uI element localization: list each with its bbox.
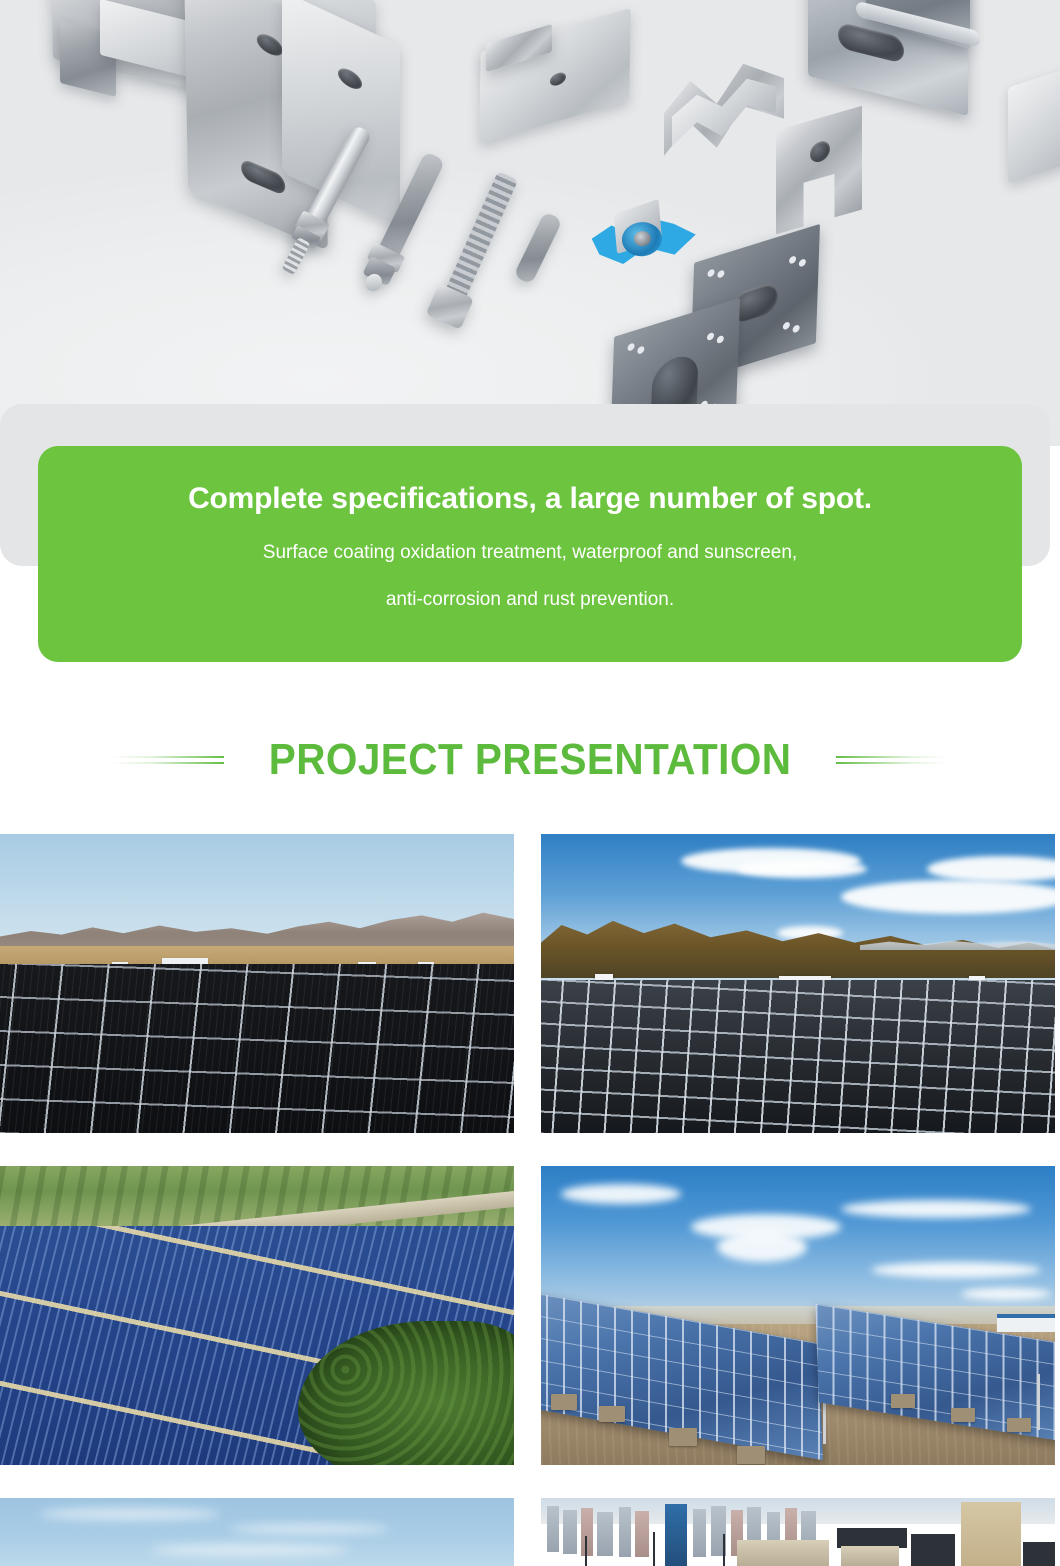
pylon-icon (585, 1536, 587, 1566)
concrete-footing-icon (737, 1446, 765, 1464)
highrise-building-icon (597, 1512, 613, 1556)
solar-panel-field-layer (0, 964, 514, 1133)
blue-nylon-tbolt-washer-part (589, 202, 699, 279)
hero-product-image (0, 0, 1060, 446)
highrise-building-icon (635, 1511, 649, 1557)
gallery-item-project-4[interactable] (541, 1166, 1055, 1465)
cloud-icon (561, 1184, 681, 1204)
industrial-structure-icon (1023, 1542, 1055, 1566)
banner-subtitle-line-1: Surface coating oxidation treatment, wat… (263, 542, 797, 564)
cloud-icon (841, 1200, 1031, 1218)
concrete-footing-icon (1007, 1418, 1031, 1432)
banner-title: Complete specifications, a large number … (188, 482, 872, 515)
bracket-hole-icon (338, 65, 362, 93)
spec-highlight-banner: Complete specifications, a large number … (38, 446, 1022, 662)
highrise-building-icon (563, 1510, 577, 1554)
section-title: PROJECT PRESENTATION (269, 735, 792, 785)
site-shed-icon (997, 1314, 1055, 1332)
industrial-structure-icon (837, 1528, 907, 1548)
low-building-icon (737, 1540, 829, 1566)
cloud-icon (737, 860, 867, 878)
gallery-item-project-5[interactable] (0, 1498, 514, 1566)
project-gallery-grid (0, 834, 1060, 1566)
aluminum-mid-clamp-part (479, 8, 631, 144)
highrise-building-icon (619, 1507, 631, 1557)
concrete-footing-icon (951, 1408, 975, 1422)
panel-support-leg (1037, 1374, 1040, 1430)
gallery-item-project-3[interactable] (0, 1166, 514, 1465)
gallery-item-project-2[interactable] (541, 834, 1055, 1133)
pylon-icon (653, 1532, 655, 1566)
bracket-slot-icon (241, 158, 285, 197)
concrete-footing-icon (599, 1406, 625, 1422)
highrise-building-icon (693, 1509, 706, 1557)
concrete-footing-icon (891, 1394, 915, 1408)
cloud-icon (40, 1508, 220, 1520)
concrete-footing-icon (551, 1394, 577, 1410)
cloud-icon (150, 1544, 350, 1556)
aluminum-end-clamp-part (776, 106, 862, 235)
solar-panel-field-layer (541, 980, 1055, 1133)
banner-subtitle-line-2: anti-corrosion and rust prevention. (386, 589, 674, 611)
warehouse-icon (961, 1502, 1021, 1566)
line-ornament-right-icon (836, 753, 948, 767)
base-slot-icon (838, 22, 904, 64)
gallery-item-project-1[interactable] (0, 834, 514, 1133)
product-photo-icon (0, 0, 1060, 446)
project-presentation-heading: PROJECT PRESENTATION (0, 716, 1060, 804)
industrial-structure-icon (911, 1534, 955, 1566)
clamp-hole-icon (810, 139, 830, 165)
aluminum-w-clamp-face (672, 69, 776, 165)
angle-piece-far-right (1008, 49, 1060, 184)
cloud-icon (717, 1232, 807, 1262)
clamp-hole-icon (550, 71, 566, 88)
cloud-icon (841, 880, 1055, 914)
highrise-building-icon (581, 1508, 593, 1556)
pylon-icon (723, 1534, 725, 1566)
cloud-icon (230, 1524, 390, 1534)
threaded-stud-part (513, 211, 563, 284)
cloud-icon (871, 1262, 1041, 1278)
highrise-building-icon (547, 1506, 559, 1552)
cloud-icon (961, 1288, 1051, 1300)
concrete-footing-icon (669, 1428, 697, 1446)
blue-tower-icon (665, 1504, 687, 1566)
bracket-hole-icon (257, 30, 283, 59)
line-ornament-left-icon (112, 753, 224, 767)
low-building-icon (841, 1546, 899, 1566)
gallery-item-project-6[interactable] (541, 1498, 1055, 1566)
